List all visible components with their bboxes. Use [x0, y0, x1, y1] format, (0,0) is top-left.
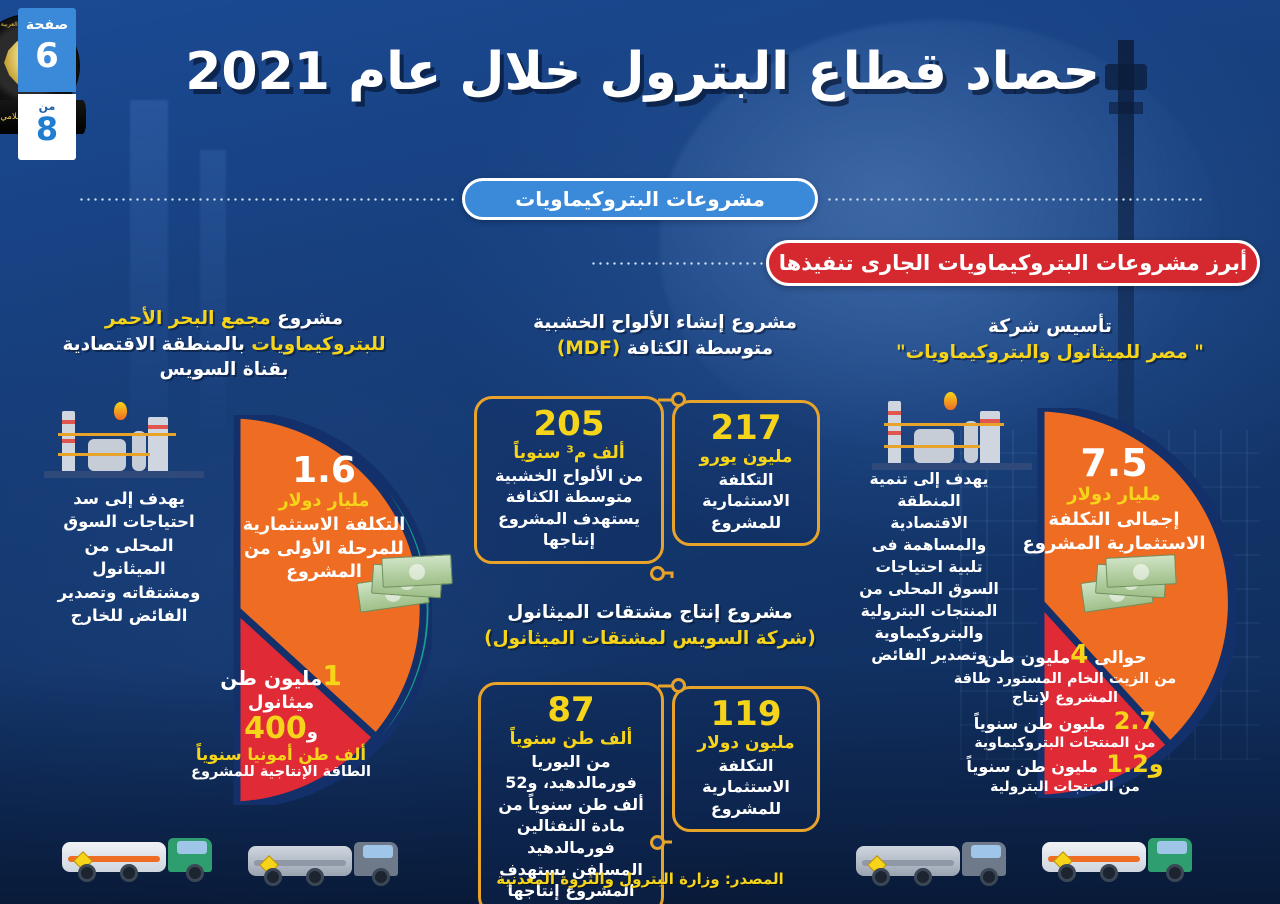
- pr-red-line6: من المنتجات البترولية: [940, 779, 1190, 795]
- pr-red-line1: حوالى 4مليون طن: [940, 640, 1190, 670]
- callout-knob-119: [671, 678, 686, 693]
- refinery-icon-left: [44, 392, 204, 478]
- page-label: صفحة: [18, 8, 76, 33]
- heading-right-l3: بقناة السويس: [14, 357, 434, 383]
- pl-red-line1: 1مليون طن: [182, 659, 380, 692]
- money-stack-icon-left: [358, 556, 454, 612]
- page-badge: صفحة 6 من 8: [18, 8, 76, 160]
- page-badge-top: صفحة 6: [18, 8, 76, 92]
- pl-red-line5: الطاقة الإنتاجية للمشروع: [182, 764, 380, 780]
- pl-red-l1-unit: مليون طن: [220, 666, 322, 690]
- heading-mid-l2a: متوسطة الكثافة: [620, 338, 773, 359]
- box-217-unit: مليون يورو: [685, 447, 807, 467]
- heading-mdf-project: مشروع إنشاء الألواح الخشبية متوسطة الكثا…: [500, 310, 830, 361]
- dotted-rule-left: [78, 198, 454, 201]
- box-119-number: 119: [685, 697, 807, 733]
- pr-red-l1-number: 4: [1070, 640, 1088, 670]
- pl-red-l1-number: 1: [322, 659, 341, 692]
- pl-red-l3-prefix: و: [307, 722, 318, 743]
- heading-mid2-l2: (شركة السويس لمشتقات الميثانول): [470, 626, 830, 652]
- heading-mid2-l1: مشروع إنتاج مشتقات الميثانول: [470, 600, 830, 626]
- source-line: المصدر: وزارة البترول والثروة المعدنية: [0, 870, 1280, 888]
- pl-orange-number: 1.6: [226, 453, 422, 489]
- box-205-body: من الألواح الخشبية متوسطة الكثافة يستهدف…: [487, 465, 651, 551]
- box-217-body: التكلفة الاستثمارية للمشروع: [685, 469, 807, 534]
- box-205-number: 205: [487, 407, 651, 443]
- page-title: حصاد قطاع البترول خلال عام 2021: [320, 46, 1100, 98]
- heading-left-l2: " مصر للميثانول والبتروكيماويات": [840, 340, 1260, 366]
- box-205-unit: ألف م³ سنوياً: [487, 443, 651, 463]
- pie-left-teal-text: يهدف إلى سد احتياجات السوق المحلى من الم…: [54, 487, 204, 628]
- callout-knob-87: [650, 835, 665, 850]
- heading-red-sea-complex: مشروع مجمع البحر الأحمر للبتروكيماويات ب…: [14, 306, 434, 383]
- page-number: 6: [18, 33, 76, 73]
- pr-red-l1-suffix: مليون طن: [983, 648, 1070, 668]
- callout-mdf-cost: 217 مليون يورو التكلفة الاستثمارية للمشر…: [672, 400, 820, 546]
- pr-red-line3: 2.7 مليون طن سنوياً: [940, 708, 1190, 736]
- pie-right-orange-text: 7.5 مليار دولار إجمالى التكلفة الاستثمار…: [1010, 444, 1218, 557]
- pr-red-l5-number: 1.2: [1106, 750, 1149, 778]
- pl-red-line3: و400: [182, 713, 380, 745]
- pr-orange-number: 7.5: [1010, 444, 1218, 482]
- pr-red-l5-unit: مليون طن سنوياً: [966, 757, 1098, 776]
- dotted-rule-banner: [590, 262, 770, 265]
- heading-left-l1: تأسيس شركة: [840, 314, 1260, 340]
- pl-red-line2: ميثانول: [182, 692, 380, 713]
- money-stack-icon-right: [1082, 556, 1178, 612]
- pl-orange-unit: مليار دولار: [226, 491, 422, 511]
- callout-knob-217: [671, 392, 686, 407]
- pr-red-line2: من الزيت الخام المستورد طاقة المشروع لإن…: [940, 670, 1190, 708]
- box-87-number: 87: [491, 693, 651, 729]
- pr-red-l3-number: 2.7: [1114, 707, 1157, 735]
- refinery-icon-right: [872, 384, 1032, 470]
- dotted-rule-right: [826, 198, 1202, 201]
- pie-right-red-text: حوالى 4مليون طن من الزيت الخام المستورد …: [940, 640, 1190, 795]
- heading-mid-l1: مشروع إنشاء الألواح الخشبية: [500, 310, 830, 336]
- callout-methanol-cost: 119 مليون دولار التكلفة الاستثمارية للمش…: [672, 686, 820, 832]
- pr-red-line4: من المنتجات البتروكيماوية: [940, 735, 1190, 751]
- pr-orange-unit: مليار دولار: [1010, 484, 1218, 505]
- heading-right-l1b: مجمع البحر الأحمر: [105, 308, 271, 329]
- heading-methanol-company: تأسيس شركة " مصر للميثانول والبتروكيماوي…: [840, 314, 1260, 365]
- pl-red-l3-number: 400: [244, 711, 307, 746]
- callout-knob-205: [650, 566, 665, 581]
- box-217-number: 217: [685, 411, 807, 447]
- heading-right-l1a: مشروع: [271, 308, 343, 329]
- page-total: 8: [18, 113, 76, 145]
- pr-red-l1-prefix: حوالى: [1088, 648, 1146, 668]
- box-119-body: التكلفة الاستثمارية للمشروع: [685, 755, 807, 820]
- pie-right-teal-text: يهدف إلى تنمية المنطقة الاقتصادية والمسا…: [858, 468, 1000, 666]
- pr-red-l3-unit: مليون طن سنوياً: [974, 714, 1106, 733]
- background-stack-left-2: [200, 150, 226, 430]
- subsection-banner: أبرز مشروعات البتروكيماويات الجارى تنفيذ…: [766, 240, 1260, 286]
- heading-right-l2b: بالمنطقة الاقتصادية: [62, 334, 251, 355]
- pr-red-l5-prefix: و: [1149, 750, 1164, 778]
- heading-mid-l2b: (MDF): [557, 338, 620, 359]
- heading-methanol-derivatives: مشروع إنتاج مشتقات الميثانول (شركة السوي…: [470, 600, 830, 651]
- section-chip: مشروعات البتروكيماويات: [462, 178, 818, 220]
- infographic-canvas: جمهورية مصر العربية رئاسة مجلس الوزراء ا…: [0, 0, 1280, 904]
- callout-mdf-volume: 205 ألف م³ سنوياً من الألواح الخشبية متو…: [474, 396, 664, 564]
- pr-orange-body: إجمالى التكلفة الاستثمارية المشروع: [1010, 508, 1218, 557]
- box-87-unit: ألف طن سنوياً: [491, 729, 651, 749]
- page-badge-bottom: من 8: [18, 94, 76, 160]
- pr-red-line5: و1.2 مليون طن سنوياً: [940, 751, 1190, 779]
- box-119-unit: مليون دولار: [685, 733, 807, 753]
- header: جمهورية مصر العربية رئاسة مجلس الوزراء ا…: [0, 0, 1280, 168]
- pl-red-line4: ألف طن أمونيا سنوياً: [182, 745, 380, 764]
- pie-left-red-text: 1مليون طن ميثانول و400 ألف طن أمونيا سنو…: [182, 659, 380, 780]
- heading-right-l2a: للبتروكيماويات: [251, 334, 385, 355]
